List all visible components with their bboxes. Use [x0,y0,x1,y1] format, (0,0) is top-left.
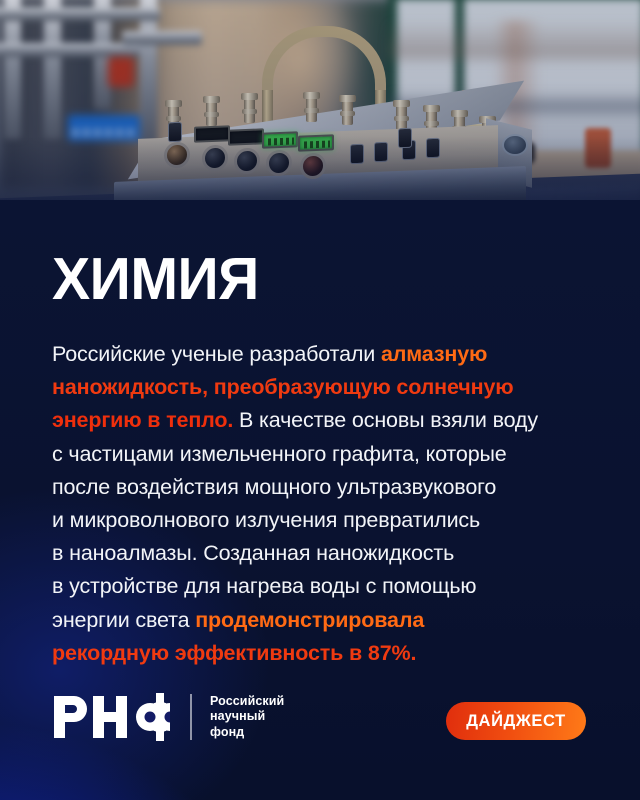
digest-card: ХИМИЯ Российские ученые разработали алма… [0,0,640,800]
footer: Российский научный фонд ДАЙДЖЕСТ [0,686,640,766]
logo-name-line-2: научный [210,709,284,725]
highlight-phrase-3: энергию в тепло. [52,408,233,432]
body-text-mid-3: после воздействия мощного ультразвуковог… [52,475,496,499]
highlight-phrase-2: наножидкость, преобразующую солнечную [52,375,513,399]
body-text-mid-2: с частицами измельченного графита, котор… [52,442,507,466]
body-text-mid-4: и микроволнового излучения превратились [52,508,480,532]
page-title: ХИМИЯ [52,250,259,309]
logo-name-line-3: фонд [210,725,284,741]
rnf-logo-mark [52,692,170,742]
rnf-monogram-icon [52,692,170,742]
body-text-intro: Российские ученые разработали [52,342,381,366]
logo-name-line-1: Российский [210,694,284,710]
rnf-logo-name: Российский научный фонд [210,694,284,741]
body-text-mid-7: энергии света [52,608,195,632]
rnf-logo[interactable]: Российский научный фонд [52,692,284,742]
highlight-phrase-4: продемонстрировала [195,608,424,632]
highlight-phrase-1: алмазную [381,342,487,366]
article-body-text: Российские ученые разработали алмазную н… [52,338,592,670]
body-text-mid-5: в наноалмазы. Созданная наножидкость [52,541,454,565]
logo-divider [190,694,192,740]
body-text-mid-6: в устройстве для нагрева воды с помощью [52,574,476,598]
content-layer: ХИМИЯ Российские ученые разработали алма… [0,0,640,800]
body-text-mid-1: В качестве основы взяли воду [233,408,538,432]
digest-badge[interactable]: ДАЙДЖЕСТ [446,702,586,740]
highlight-phrase-5: рекордную эффективность в 87%. [52,641,416,665]
